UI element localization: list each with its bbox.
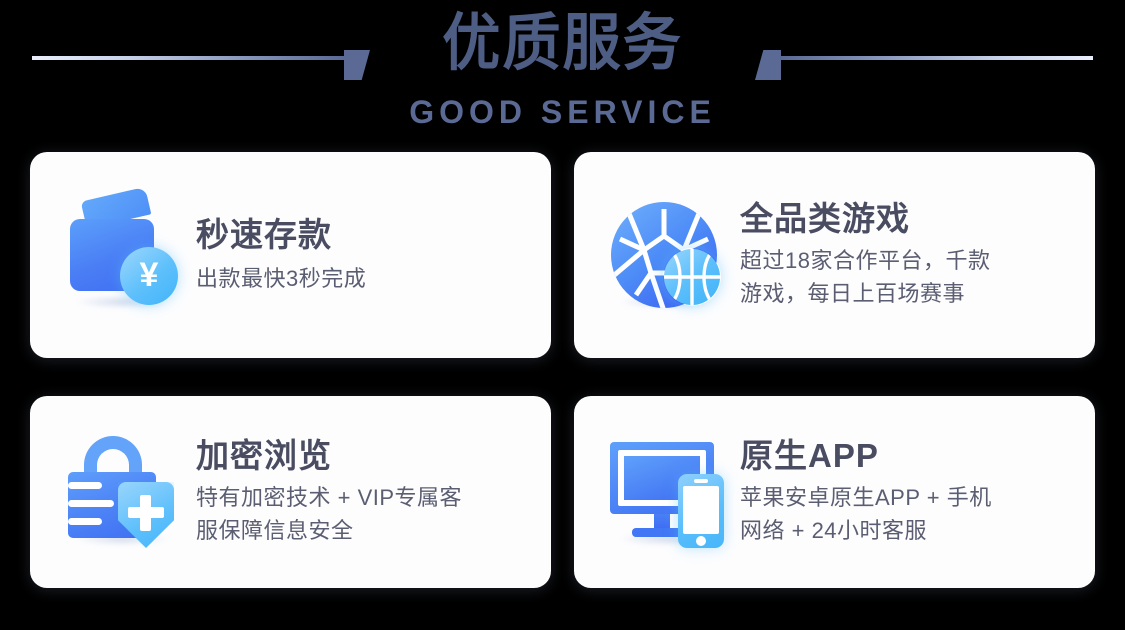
yuan-symbol: ¥	[140, 258, 159, 292]
phone-screen-icon	[683, 486, 719, 534]
card-title: 全品类游戏	[740, 200, 1083, 238]
lock-slot-icon	[68, 518, 102, 525]
feature-card-native-app[interactable]: 原生APP 苹果安卓原生APP + 手机 网络 + 24小时客服	[574, 396, 1095, 588]
feature-card-encryption[interactable]: 加密浏览 特有加密技术 + VIP专属客 服保障信息安全	[30, 396, 551, 588]
feature-card-deposit[interactable]: ¥ 秒速存款 出款最快3秒完成	[30, 152, 551, 358]
basketball-icon	[663, 248, 721, 311]
card-text-block: 加密浏览 特有加密技术 + VIP专属客 服保障信息安全	[194, 437, 551, 547]
card-desc-line-2: 游戏，每日上百场赛事	[740, 277, 1083, 310]
card-text-block: 秒速存款 出款最快3秒完成	[194, 216, 551, 295]
good-service-banner: 优质服务 GOOD SERVICE ¥ 秒速存款 出款最快3秒完成	[0, 0, 1125, 630]
yuan-coin-icon: ¥	[120, 247, 178, 305]
card-desc-line-1: 苹果安卓原生APP + 手机	[740, 481, 1083, 514]
phone-home-button-icon	[696, 536, 706, 546]
cross-icon	[140, 495, 151, 531]
banner-header: 优质服务 GOOD SERVICE	[0, 0, 1125, 150]
header-title-cn: 优质服务	[34, 8, 1092, 80]
feature-card-games[interactable]: 全品类游戏 超过18家合作平台，千款 游戏，每日上百场赛事	[574, 152, 1095, 358]
lock-slot-icon	[68, 482, 102, 489]
card-title: 秒速存款	[196, 216, 539, 254]
soccer-basketball-icon	[606, 195, 738, 315]
card-desc-line-1: 超过18家合作平台，千款	[740, 244, 1083, 277]
monitor-phone-icon	[606, 432, 738, 552]
header-title-en: GOOD SERVICE	[0, 94, 1125, 130]
card-desc-line-2: 网络 + 24小时客服	[740, 514, 1083, 547]
card-desc-line-1: 出款最快3秒完成	[196, 262, 539, 295]
card-title: 加密浏览	[196, 437, 539, 475]
lock-slot-icon	[68, 500, 114, 507]
card-text-block: 全品类游戏 超过18家合作平台，千款 游戏，每日上百场赛事	[738, 200, 1095, 310]
card-desc-line-1: 特有加密技术 + VIP专属客	[196, 481, 539, 514]
monitor-stand-neck-icon	[654, 514, 670, 528]
card-title: 原生APP	[740, 437, 1083, 475]
card-desc-line-2: 服保障信息安全	[196, 514, 539, 547]
card-text-block: 原生APP 苹果安卓原生APP + 手机 网络 + 24小时客服	[738, 437, 1095, 547]
lock-shield-icon	[62, 432, 194, 552]
feature-card-grid: ¥ 秒速存款 出款最快3秒完成	[30, 152, 1095, 588]
phone-speaker-icon	[694, 479, 708, 483]
wallet-yuan-icon: ¥	[62, 195, 194, 315]
